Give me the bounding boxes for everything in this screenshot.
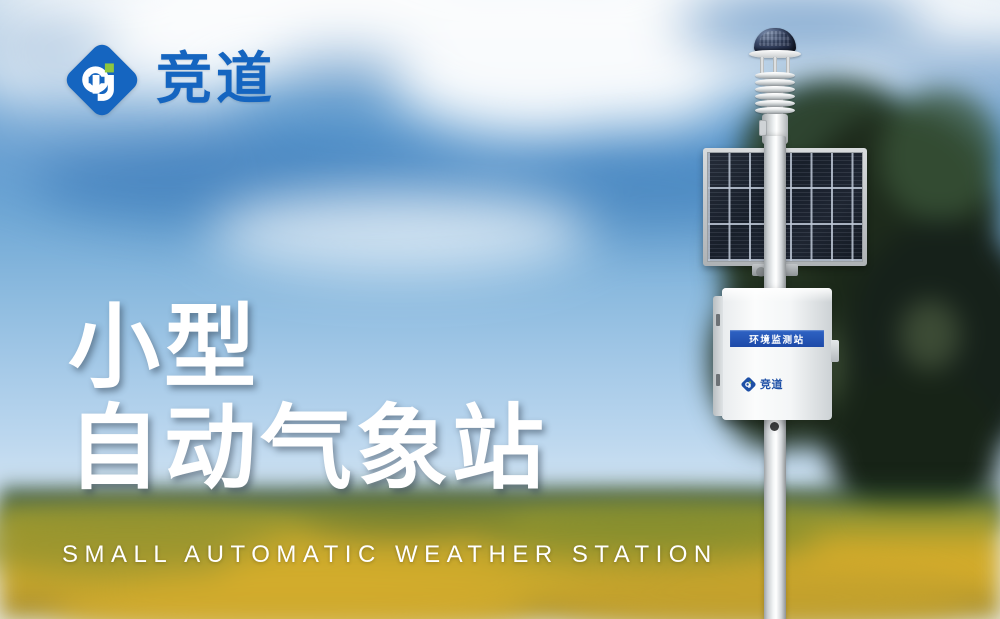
jingdao-logo-icon bbox=[741, 377, 756, 392]
box-vent-icon bbox=[716, 374, 720, 386]
headline-subtitle: SMALL AUTOMATIC WEATHER STATION bbox=[62, 541, 718, 569]
control-box-logo: 竞道 bbox=[741, 376, 783, 392]
brand-name: 竞道 bbox=[156, 52, 276, 108]
weather-station-device: 环境监测站 竞道 bbox=[700, 24, 885, 619]
control-box-banner-label: 环境监测站 bbox=[749, 332, 805, 346]
headline-block: 小型 自动气象站 bbox=[68, 300, 548, 497]
control-box-banner: 环境监测站 bbox=[730, 330, 824, 347]
box-highlight bbox=[722, 288, 832, 302]
headline-line-1: 小型 bbox=[68, 300, 548, 397]
sensor-connector-icon bbox=[759, 120, 767, 136]
headline-line-2: 自动气象站 bbox=[68, 401, 548, 498]
jingdao-diamond-logo-icon bbox=[66, 44, 138, 116]
radiation-shield-icon bbox=[755, 72, 795, 118]
control-box: 环境监测站 竞道 bbox=[722, 288, 832, 420]
sensor-dome-icon bbox=[754, 28, 796, 52]
brand-logo: 竞道 bbox=[66, 44, 276, 116]
control-box-logo-label: 竞道 bbox=[760, 376, 783, 392]
ultrasonic-weather-sensor-icon bbox=[738, 28, 810, 148]
pole-bolt-icon bbox=[770, 422, 779, 431]
weather-station-promo-banner: 环境监测站 竞道 竞道 小型 自动气象 bbox=[0, 0, 1000, 619]
box-latch-icon bbox=[831, 340, 839, 362]
box-vent-icon bbox=[716, 314, 720, 326]
